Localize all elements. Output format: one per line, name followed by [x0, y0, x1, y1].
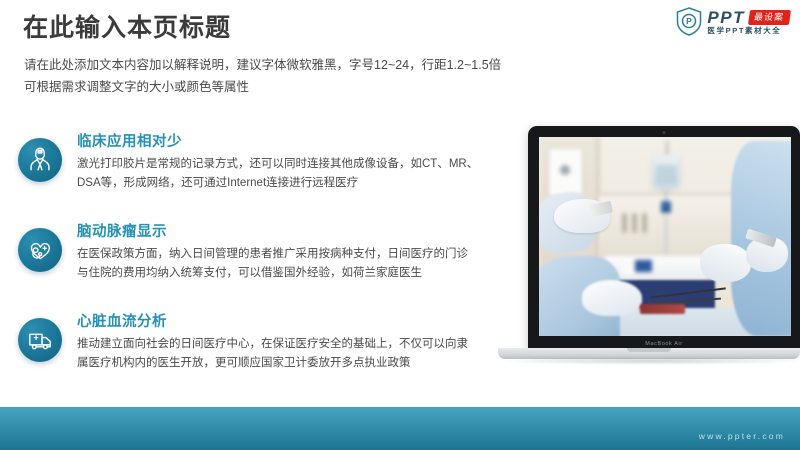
list-item-body-line-2: 与住院的费用均纳入统筹支付，可以借鉴国外经验，如荷兰家庭医生 — [77, 264, 494, 283]
list-item-body-line-1: 激光打印胶片是常规的记录方式，还可以同时连接其他成像设备，如CT、MR、 — [77, 155, 494, 174]
feature-list: 临床应用相对少 激光打印胶片是常规的记录方式，还可以同时连接其他成像设备，如CT… — [14, 133, 494, 391]
operating-room-photo — [539, 137, 791, 336]
list-item-body: 推动建立面向社会的日间医疗中心，在保证医疗安全的基础上，不仅可以向隶 属医疗机构… — [77, 335, 494, 372]
list-item-body: 在医保政策方面，纳入日间管理的患者推广采用按病种支付，日间医疗的门诊 与住院的费… — [77, 245, 494, 282]
footer-bar: www.ppter.com — [0, 407, 800, 450]
ambulance-icon — [18, 318, 62, 362]
page-subtitle-line-2: 可根据需求调整文字的大小或颜色等属性 — [24, 77, 674, 99]
logo-subtitle: 医学PPT素材大全 — [707, 27, 790, 35]
brand-logo: P PPT 最设案 医学PPT素材大全 — [676, 7, 790, 36]
list-item-title: 心脏血流分析 — [77, 313, 494, 331]
shield-letter: P — [687, 16, 693, 26]
page-title: 在此输入本页标题 — [23, 13, 231, 43]
list-item-title: 临床应用相对少 — [77, 133, 494, 151]
list-item[interactable]: 临床应用相对少 激光打印胶片是常规的记录方式，还可以同时连接其他成像设备，如CT… — [14, 133, 494, 211]
list-item-body-line-1: 推动建立面向社会的日间医疗中心，在保证医疗安全的基础上，不仅可以向隶 — [77, 335, 494, 354]
webcam-icon — [663, 131, 666, 134]
laptop-lid: MacBook Air — [528, 126, 800, 350]
logo-top-row: PPT 最设案 — [707, 9, 790, 26]
doctor-icon — [18, 138, 62, 182]
heart-stethoscope-icon — [18, 228, 62, 272]
page-subtitle: 请在此处添加文本内容加以解释说明，建议字体微软雅黑，字号12~24，行距1.2~… — [24, 55, 674, 99]
list-item-body-line-1: 在医保政策方面，纳入日间管理的患者推广采用按病种支付，日间医疗的门诊 — [77, 245, 494, 264]
laptop-shadow — [502, 357, 796, 365]
logo-badge: 最设案 — [748, 10, 791, 25]
list-item-body-line-2: DSA等，形成网络，还可通过Internet连接进行远程医疗 — [77, 174, 494, 193]
laptop-model-label: MacBook Air — [645, 341, 682, 347]
laptop-mockup: MacBook Air — [498, 126, 800, 376]
list-item-title: 脑动脉瘤显示 — [77, 223, 494, 241]
list-item[interactable]: 脑动脉瘤显示 在医保政策方面，纳入日间管理的患者推广采用按病种支付，日间医疗的门… — [14, 223, 494, 301]
list-item[interactable]: 心脏血流分析 推动建立面向社会的日间医疗中心，在保证医疗安全的基础上，不仅可以向… — [14, 313, 494, 391]
laptop-notch — [627, 348, 671, 352]
list-item-body: 激光打印胶片是常规的记录方式，还可以同时连接其他成像设备，如CT、MR、 DSA… — [77, 155, 494, 192]
logo-text-column: PPT 最设案 医学PPT素材大全 — [707, 9, 790, 35]
shield-icon: P — [676, 7, 702, 36]
list-item-body-line-2: 属医疗机构内的医生开放，更可顺应国家卫计委放开多点执业政策 — [77, 354, 494, 373]
footer-url[interactable]: www.ppter.com — [699, 431, 785, 441]
laptop-screen — [539, 137, 791, 336]
page-subtitle-line-1: 请在此处添加文本内容加以解释说明，建议字体微软雅黑，字号12~24，行距1.2~… — [24, 55, 674, 77]
logo-brand-text: PPT — [707, 9, 745, 26]
